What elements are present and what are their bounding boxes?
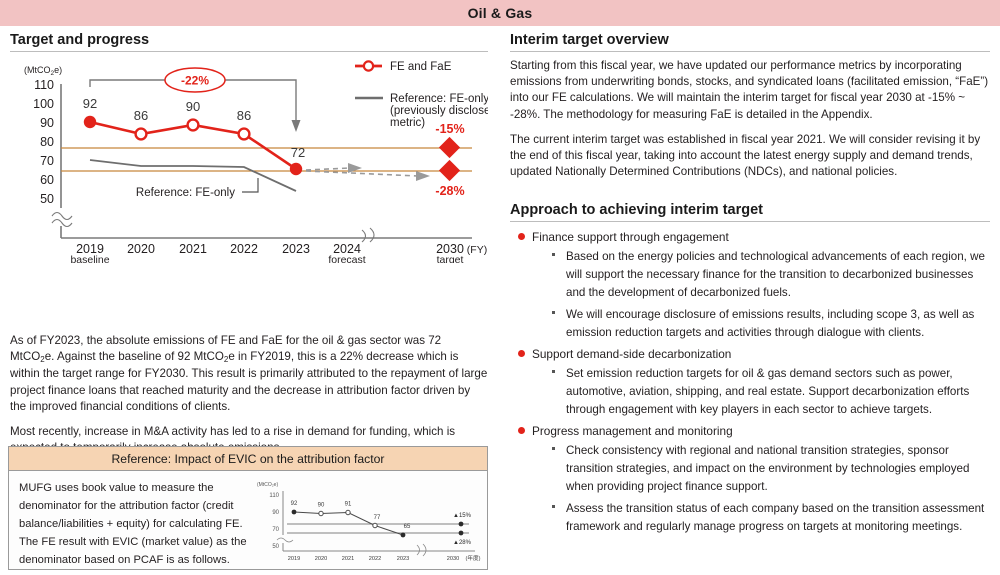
mini-target-label-15: ▲15%	[453, 513, 472, 519]
sub-bullet-dot-icon	[552, 370, 555, 373]
evic-reference-box-header: Reference: Impact of EVIC on the attribu…	[9, 447, 487, 471]
mini-label-2019: 92	[291, 501, 298, 507]
mini-x-ticks: 2019 2020 2021 2022 2023 2030	[288, 556, 459, 562]
approach-sublist-2: Set emission reduction targets for oil &…	[532, 364, 990, 418]
approach-bullet-list: Finance support through engagement Based…	[510, 228, 990, 535]
y-axis-break-icon	[52, 213, 72, 220]
svg-text:90: 90	[40, 116, 54, 130]
approach-bullet-1-label: Finance support through engagement	[532, 230, 729, 244]
approach-subbullet-3-1-text: Check consistency with regional and nati…	[566, 444, 969, 493]
sub-bullet-dot-icon	[552, 253, 555, 256]
approach-subbullet-1-2-text: We will encourage disclosure of emission…	[566, 308, 974, 339]
mini-y-break-icon	[277, 538, 293, 542]
evic-reference-box-text: MUFG uses book value to measure the deno…	[19, 479, 251, 569]
x-axis-break-icon	[362, 230, 366, 242]
data-label-2023: 72	[291, 145, 305, 160]
sub-bullet-dot-icon	[552, 311, 555, 314]
bullet-dot-icon	[518, 350, 525, 357]
sub-bullet-dot-icon	[552, 447, 555, 450]
x-tick-2020: 2020	[127, 242, 155, 256]
section-heading-approach: Approach to achieving interim target	[510, 202, 990, 222]
projection-arrow-lower-head	[416, 171, 430, 181]
section-heading-interim-target-overview: Interim target overview	[510, 32, 990, 52]
x-axis-unit-label: (FY)	[467, 244, 487, 256]
svg-text:60: 60	[40, 173, 54, 187]
approach-subbullet-3-2: Assess the transition status of each com…	[532, 499, 990, 535]
mini-label-2022: 77	[374, 515, 381, 521]
mini-y-ticks: 110 90 70 50	[269, 493, 279, 550]
y-axis-break-icon-2	[52, 220, 72, 227]
svg-text:50: 50	[40, 192, 54, 206]
mini-target-label-28: ▲28%	[453, 540, 472, 546]
mini-data-labels: 92 90 91 77 65	[291, 501, 411, 530]
svg-text:70: 70	[40, 154, 54, 168]
decrease-arrowhead	[292, 120, 301, 132]
data-label-2020: 86	[134, 108, 148, 123]
data-point-2022	[239, 129, 250, 140]
approach-subbullet-1-2: We will encourage disclosure of emission…	[532, 305, 990, 341]
x-sublabel-forecast: forecast	[328, 254, 365, 263]
mini-point-2021	[346, 510, 350, 514]
x-tick-2023: 2023	[282, 242, 310, 256]
svg-text:50: 50	[272, 544, 279, 550]
approach-subbullet-1-1-text: Based on the energy policies and technol…	[566, 250, 985, 299]
svg-text:110: 110	[269, 493, 279, 499]
y-axis-unit-label: (MtCO2e)	[24, 65, 62, 77]
mini-target-marker-28	[459, 531, 464, 536]
target-label-minus15: -15%	[435, 122, 464, 136]
approach-bullet-2-label: Support demand-side decarbonization	[532, 347, 731, 361]
x-axis-break-icon-2	[370, 228, 374, 242]
mini-x-tick-2019: 2019	[288, 556, 300, 562]
approach-subbullet-3-2-text: Assess the transition status of each com…	[566, 502, 984, 533]
approach-bullet-2: Support demand-side decarbonization Set …	[510, 345, 990, 418]
mini-target-marker-15	[459, 522, 464, 527]
mini-x-tick-2023: 2023	[397, 556, 409, 562]
reference-leader-line	[242, 178, 258, 192]
mini-label-2023: 65	[404, 524, 411, 530]
mini-y-axis-unit-label: (MtCO₂e)	[257, 482, 278, 488]
page-title: Oil & Gas	[468, 5, 533, 21]
data-point-2019	[84, 116, 96, 128]
data-point-2021	[188, 120, 199, 131]
left-paragraph-1: As of FY2023, the absolute emissions of …	[10, 333, 488, 415]
right-column: Interim target overview Starting from th…	[510, 32, 990, 539]
mini-point-2022	[373, 523, 377, 527]
legend-label-fe-and-fae: FE and FaE	[390, 61, 452, 73]
x-tick-2021: 2021	[179, 242, 207, 256]
evic-reference-box-body: MUFG uses book value to measure the deno…	[9, 471, 487, 569]
target-marker-minus15	[439, 137, 460, 158]
svg-text:100: 100	[33, 97, 54, 111]
x-axis-ticks: 2019 2020 2021 2022 2023 2024 2030	[76, 242, 464, 256]
data-point-2023	[290, 163, 302, 175]
mini-label-2021: 91	[345, 502, 352, 508]
mini-x-tick-2020: 2020	[315, 556, 327, 562]
legend-label-reference-2: (previously disclosed	[390, 105, 488, 117]
target-label-minus28: -28%	[435, 184, 464, 198]
approach-sublist-3: Check consistency with regional and nati…	[532, 441, 990, 535]
bullet-dot-icon	[518, 427, 525, 434]
approach-bullet-3-label: Progress management and monitoring	[532, 424, 733, 438]
right-paragraph-1: Starting from this fiscal year, we have …	[510, 58, 990, 123]
mini-x-axis-unit-label: (年度)	[466, 554, 481, 562]
reference-inline-label: Reference: FE-only	[136, 187, 235, 199]
approach-subbullet-1-1: Based on the energy policies and technol…	[532, 247, 990, 301]
svg-text:90: 90	[272, 510, 279, 516]
x-sublabel-target: target	[437, 254, 464, 263]
decrease-callout-label: -22%	[181, 74, 209, 88]
chart-legend: FE and FaE Reference: FE-only (previousl…	[355, 61, 488, 129]
main-chart-svg: (MtCO2e) 110 100 90 80 70 60 50	[10, 58, 488, 263]
right-paragraph-2: The current interim target was establish…	[510, 132, 990, 181]
data-label-2019: 92	[83, 96, 97, 111]
mini-point-2019	[292, 510, 297, 515]
svg-text:110: 110	[34, 78, 54, 92]
mini-x-tick-2030: 2030	[447, 556, 459, 562]
approach-subbullet-3-1: Check consistency with regional and nati…	[532, 441, 990, 495]
mini-point-2023	[401, 533, 406, 538]
approach-subbullet-2-1: Set emission reduction targets for oil &…	[532, 364, 990, 418]
mini-x-break-icon	[417, 545, 420, 555]
projection-arrow-upper-line	[306, 168, 350, 170]
data-label-2021: 90	[186, 99, 200, 114]
approach-bullet-3: Progress management and monitoring Check…	[510, 422, 990, 535]
data-label-2022: 86	[237, 108, 251, 123]
mini-x-break-icon-2	[423, 544, 426, 556]
section-heading-target-and-progress: Target and progress	[10, 32, 488, 52]
mini-label-2020: 90	[318, 503, 325, 509]
evic-reference-box: Reference: Impact of EVIC on the attribu…	[8, 446, 488, 570]
svg-text:80: 80	[40, 135, 54, 149]
bullet-dot-icon	[518, 233, 525, 240]
approach-bullet-1: Finance support through engagement Based…	[510, 228, 990, 341]
approach-sublist-1: Based on the energy policies and technol…	[532, 247, 990, 341]
projection-arrow-lower-line	[306, 171, 418, 176]
page-header-banner: Oil & Gas	[0, 0, 1000, 26]
y-axis-ticks: 110 100 90 80 70 60 50	[33, 78, 54, 206]
legend-label-reference-3: metric)	[390, 117, 425, 129]
left-column: Target and progress (MtCO2e) 110 100 90 …	[10, 32, 488, 498]
svg-text:70: 70	[272, 527, 279, 533]
evic-reference-box-title: Reference: Impact of EVIC on the attribu…	[111, 452, 384, 466]
slide-page: Oil & Gas Target and progress (MtCO2e) 1…	[0, 0, 1000, 575]
legend-label-reference: Reference: FE-only	[390, 93, 488, 105]
evic-mini-chart: (MtCO₂e) 110 90 70 50	[253, 477, 483, 567]
sub-bullet-dot-icon	[552, 505, 555, 508]
data-point-2020	[136, 129, 147, 140]
legend-marker-circle-icon	[364, 61, 373, 70]
target-marker-minus28	[439, 160, 460, 181]
mini-point-2020	[319, 511, 323, 515]
x-sublabel-baseline: baseline	[70, 254, 109, 263]
mini-x-tick-2021: 2021	[342, 556, 354, 562]
x-tick-2022: 2022	[230, 242, 258, 256]
main-chart: (MtCO2e) 110 100 90 80 70 60 50	[10, 58, 488, 263]
mini-x-tick-2022: 2022	[369, 556, 381, 562]
approach-subbullet-2-1-text: Set emission reduction targets for oil &…	[566, 367, 969, 416]
